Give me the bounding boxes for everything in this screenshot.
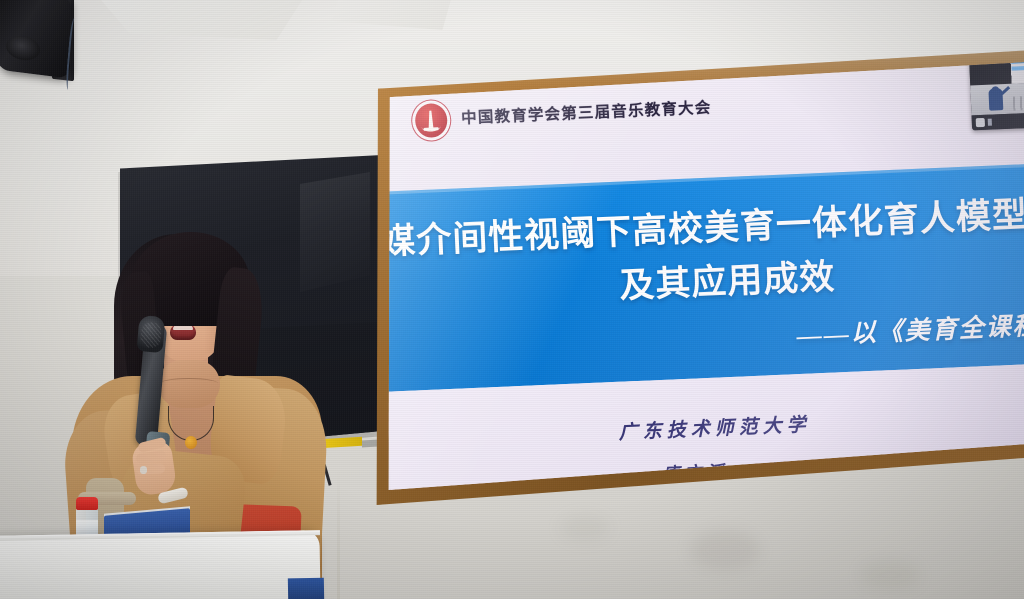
shared-slide-band-secondary [1012, 65, 1024, 71]
toolbar-divider [713, 62, 714, 67]
emblem-base [424, 127, 439, 131]
water-bottle-cap[interactable] [76, 497, 98, 510]
toolbar-camera-icon[interactable] [688, 62, 699, 69]
panel-thumbnail-badge [976, 118, 985, 127]
toolbar-meeting-title [643, 62, 681, 71]
presenter-turtleneck-fold [160, 378, 218, 389]
wall-mark [560, 515, 610, 541]
toolbar-share-icon[interactable] [717, 62, 728, 68]
wall-mark [860, 560, 920, 590]
participant-video-panel[interactable] [968, 62, 1024, 130]
presentation-slide: 中国教育学会第三届音乐教育大会 [386, 62, 1024, 490]
projection-screen[interactable]: 中国教育学会第三届音乐教育大会 [374, 50, 1024, 505]
remote-room-seats [1013, 95, 1024, 111]
presenter-desk [0, 530, 321, 599]
panel-count-badge [988, 119, 992, 126]
shared-screen-tile[interactable] [969, 62, 1024, 85]
screenshot-root: 除按钮 中国教育学会第三届音乐教育大会 [0, 0, 1024, 599]
wall-seam [337, 470, 340, 599]
wall-speaker [0, 0, 110, 110]
toolbar-leave-icon[interactable] [702, 62, 711, 68]
screen-surface: 中国教育学会第三届音乐教育大会 [386, 62, 1024, 490]
wall-mark [690, 530, 760, 570]
desk-blue-object [288, 578, 324, 599]
toolbar-mic-icon[interactable] [631, 62, 641, 71]
toolbar-divider [684, 62, 685, 69]
conference-emblem-icon [410, 99, 452, 143]
water-bottle-label [76, 520, 98, 534]
presenter-pendant [185, 436, 197, 449]
presenter-ring [140, 466, 147, 474]
